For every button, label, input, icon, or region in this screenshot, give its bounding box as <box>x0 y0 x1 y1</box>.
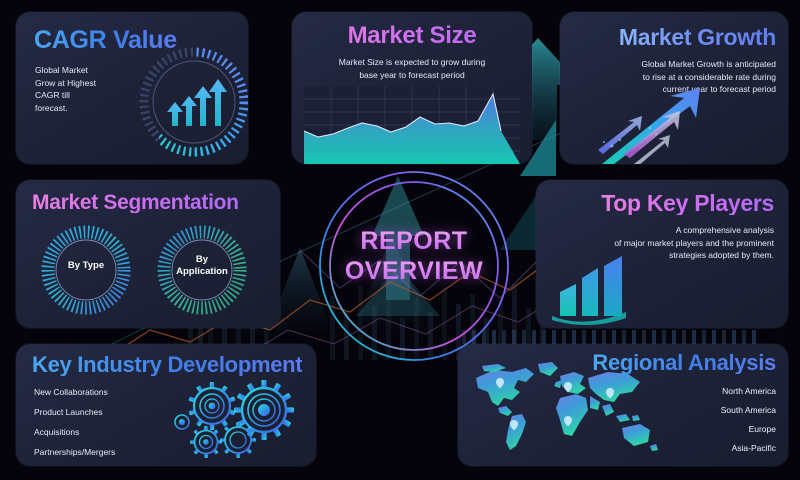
regional-region-list: North America South America Europe Asia-… <box>721 382 776 458</box>
region-item-europe[interactable]: Europe <box>721 420 776 439</box>
market-size-title: Market Size <box>292 24 532 48</box>
card-market-growth[interactable]: Market Growth Global Market Growth is an… <box>560 12 788 164</box>
market-size-body: Market Size is expected to grow during b… <box>292 56 532 81</box>
bar-chart-icon <box>550 256 660 326</box>
report-overview-hub[interactable]: REPORT OVERVIEW <box>316 168 512 364</box>
cagr-line-2: Grow at Highest <box>35 77 145 90</box>
cagr-line-3: CAGR till <box>35 89 145 102</box>
market-size-line-2: base year to forecast period <box>292 69 532 82</box>
card-market-segmentation[interactable]: Market Segmentation By Type <box>16 180 280 328</box>
hub-title-line-1: REPORT <box>316 226 512 256</box>
segmentation-title: Market Segmentation <box>32 192 239 213</box>
card-market-size[interactable]: Market Size Market Size is expected to g… <box>292 12 532 164</box>
region-item-north-america[interactable]: North America <box>721 382 776 401</box>
market-growth-title: Market Growth <box>619 26 776 49</box>
market-size-line-1: Market Size is expected to grow during <box>292 56 532 69</box>
gauge-inner-ring <box>153 61 235 143</box>
market-size-area-chart <box>304 86 520 164</box>
gears-icon <box>172 376 308 460</box>
key-players-line-2: of major market players and the prominen… <box>544 237 774 250</box>
card-key-industry-development[interactable]: Key Industry Development New Collaborati… <box>16 344 316 466</box>
card-top-key-players[interactable]: Top Key Players A comprehensive analysis… <box>536 180 788 328</box>
industry-item-2[interactable]: Product Launches <box>34 402 115 422</box>
cagr-body: Global Market Grow at Highest CAGR till … <box>35 64 145 114</box>
gear-medium <box>188 382 235 430</box>
bar-3 <box>604 256 622 316</box>
market-growth-line-1: Global Market Growth is anticipated <box>576 58 776 71</box>
industry-item-1[interactable]: New Collaborations <box>34 382 115 402</box>
gauge-arrow-group <box>167 79 227 126</box>
gear-large <box>234 380 294 440</box>
ring-label-by-application: By Application <box>160 254 244 278</box>
gear-small-1 <box>190 426 222 458</box>
ring-label-by-application-l2: Application <box>160 266 244 278</box>
gauge-arrows-icon <box>134 42 248 162</box>
card-cagr-value[interactable]: CAGR Value Global Market Grow at Highest… <box>16 12 248 164</box>
infographic-canvas: CAGR Value Global Market Grow at Highest… <box>0 0 800 480</box>
world-map-icon <box>468 358 668 458</box>
gear-tiny <box>175 415 189 429</box>
market-growth-line-2: to rise at a considerable rate during <box>576 71 776 84</box>
key-players-title: Top Key Players <box>601 192 774 215</box>
industry-title: Key Industry Development <box>32 354 302 376</box>
industry-item-4[interactable]: Partnerships/Mergers <box>34 442 115 462</box>
cagr-line-4: forecast. <box>35 102 145 115</box>
ring-label-by-application-l1: By <box>160 254 244 266</box>
region-item-south-america[interactable]: South America <box>721 401 776 420</box>
cagr-line-1: Global Market <box>35 64 145 77</box>
bar-1 <box>560 284 576 316</box>
ring-label-by-type: By Type <box>44 260 128 271</box>
bar-2 <box>582 268 598 316</box>
world-map-landmasses <box>476 362 658 451</box>
industry-list: New Collaborations Product Launches Acqu… <box>34 382 115 462</box>
gear-small-2 <box>220 422 256 458</box>
industry-item-3[interactable]: Acquisitions <box>34 422 115 442</box>
key-players-line-1: A comprehensive analysis <box>544 224 774 237</box>
region-item-asia-pacific[interactable]: Asia-Pacific <box>721 439 776 458</box>
rising-arrows-icon <box>584 84 744 164</box>
hub-title-line-2: OVERVIEW <box>316 256 512 286</box>
